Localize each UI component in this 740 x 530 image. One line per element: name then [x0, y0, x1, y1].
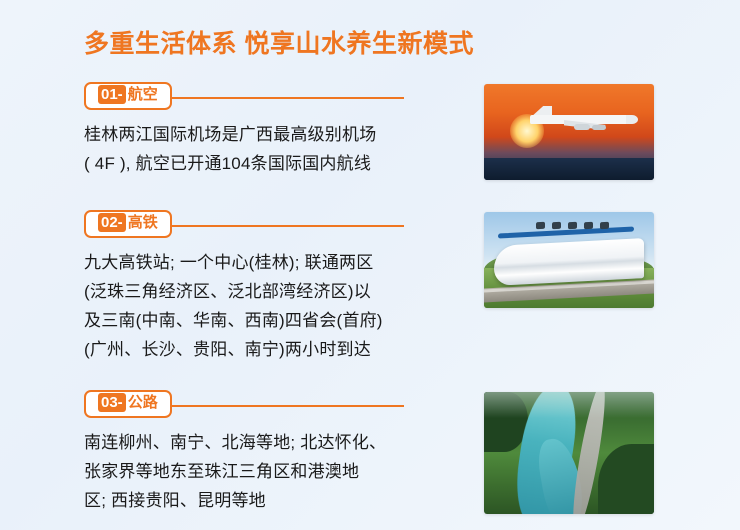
body-line: 九大高铁站; 一个中心(桂林); 联通两区	[84, 248, 476, 277]
high-speed-train-photo	[484, 212, 654, 308]
body-line: 桂林两江国际机场是广西最高级别机场	[84, 120, 476, 149]
river-canyon-road-photo	[484, 392, 654, 514]
section-body-1: 桂林两江国际机场是广西最高级别机场 ( 4F ), 航空已开通104条国际国内航…	[84, 120, 476, 178]
section-number-3: 03-	[98, 393, 126, 412]
slide-page: 多重生活体系 悦享山水养生新模式 01-航空 桂林两江国际机场是广西最高级别机场…	[0, 0, 740, 530]
body-line: (泛珠三角经济区、泛北部湾经济区)以	[84, 277, 476, 306]
body-line: 及三南(中南、华南、西南)四省会(首府)	[84, 306, 476, 335]
section-body-2: 九大高铁站; 一个中心(桂林); 联通两区 (泛珠三角经济区、泛北部湾经济区)以…	[84, 248, 476, 365]
section-badge-1: 01-航空	[84, 82, 172, 110]
section-number-1: 01-	[98, 85, 126, 104]
section-badge-2: 02-高铁	[84, 210, 172, 238]
section-title-1: 航空	[128, 86, 158, 103]
body-line: 张家界等地东至珠江三角区和港澳地	[84, 457, 476, 486]
body-line: 区; 西接贵阳、昆明等地	[84, 486, 476, 515]
train-window	[600, 222, 609, 229]
airplane-sunset-photo	[484, 84, 654, 180]
train-icon	[494, 238, 644, 286]
section-body-3: 南连柳州、南宁、北海等地; 北达怀化、 张家界等地东至珠江三角区和港澳地 区; …	[84, 428, 476, 516]
train-window	[536, 222, 545, 229]
engine	[574, 124, 590, 130]
train-window	[568, 222, 577, 229]
mist-overlay	[484, 392, 654, 418]
page-title: 多重生活体系 悦享山水养生新模式	[84, 24, 474, 60]
section-title-3: 公路	[128, 394, 158, 411]
body-line: (广州、长沙、贵阳、南宁)两小时到达	[84, 335, 476, 364]
engine	[592, 125, 606, 130]
airplane-icon	[530, 106, 634, 132]
nose-cone	[626, 115, 638, 124]
section-badge-3: 03-公路	[84, 390, 172, 418]
body-line: 南连柳州、南宁、北海等地; 北达怀化、	[84, 428, 476, 457]
ground-strip	[484, 158, 654, 180]
section-number-2: 02-	[98, 213, 126, 232]
section-title-2: 高铁	[128, 214, 158, 231]
body-line: ( 4F ), 航空已开通104条国际国内航线	[84, 149, 476, 178]
train-window	[584, 222, 593, 229]
train-window	[552, 222, 561, 229]
